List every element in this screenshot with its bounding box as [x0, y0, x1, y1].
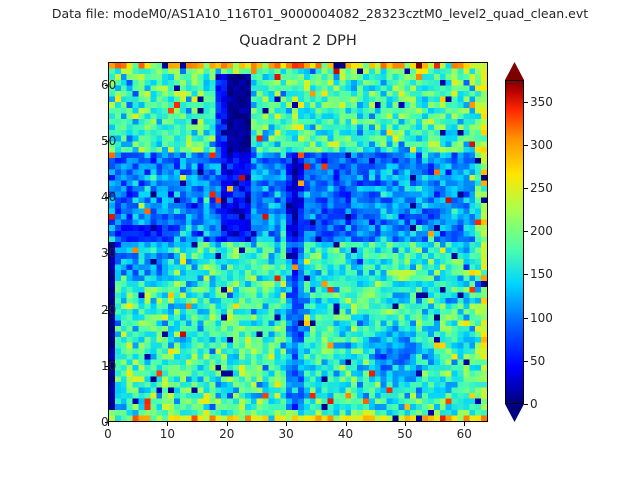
heatmap-axes[interactable] [108, 62, 488, 422]
colorbar-tick [524, 361, 528, 362]
colorbar-tick [524, 102, 528, 103]
colorbar-tick [524, 231, 528, 232]
colorbar-tick [524, 145, 528, 146]
figure-canvas: Data file: modeM0/AS1A10_116T01_90000040… [0, 0, 640, 480]
data-file-label: Data file: modeM0/AS1A10_116T01_90000040… [0, 6, 640, 21]
heatmap-image-wrapper [109, 63, 487, 421]
x-tick-label: 60 [457, 427, 472, 441]
x-tick-label: 0 [104, 427, 112, 441]
colorbar-tick [524, 274, 528, 275]
x-tick-label: 20 [219, 427, 234, 441]
page-title: Quadrant 2 DPH [108, 33, 488, 49]
colorbar-gradient [505, 80, 524, 404]
colorbar[interactable] [505, 62, 524, 422]
colorbar-tick-label: 300 [530, 138, 553, 152]
colorbar-extend-min-arrow-icon [505, 404, 524, 422]
x-tick [167, 422, 168, 426]
heatmap-image [109, 63, 487, 421]
x-tick [227, 422, 228, 426]
colorbar-tick-label: 0 [530, 397, 538, 411]
colorbar-tick-label: 100 [530, 311, 553, 325]
colorbar-tick-label: 50 [530, 354, 545, 368]
x-tick-label: 50 [397, 427, 412, 441]
colorbar-tick-label: 150 [530, 267, 553, 281]
colorbar-tick-label: 250 [530, 181, 553, 195]
x-tick [346, 422, 347, 426]
x-tick [286, 422, 287, 426]
x-tick-label: 30 [278, 427, 293, 441]
colorbar-tick-label: 200 [530, 224, 553, 238]
colorbar-tick [524, 404, 528, 405]
colorbar-tick [524, 318, 528, 319]
x-tick-label: 40 [338, 427, 353, 441]
colorbar-extend-max-arrow-icon [505, 62, 524, 80]
colorbar-tick [524, 188, 528, 189]
x-tick-label: 10 [160, 427, 175, 441]
colorbar-tick-label: 350 [530, 95, 553, 109]
x-tick [464, 422, 465, 426]
x-tick [405, 422, 406, 426]
